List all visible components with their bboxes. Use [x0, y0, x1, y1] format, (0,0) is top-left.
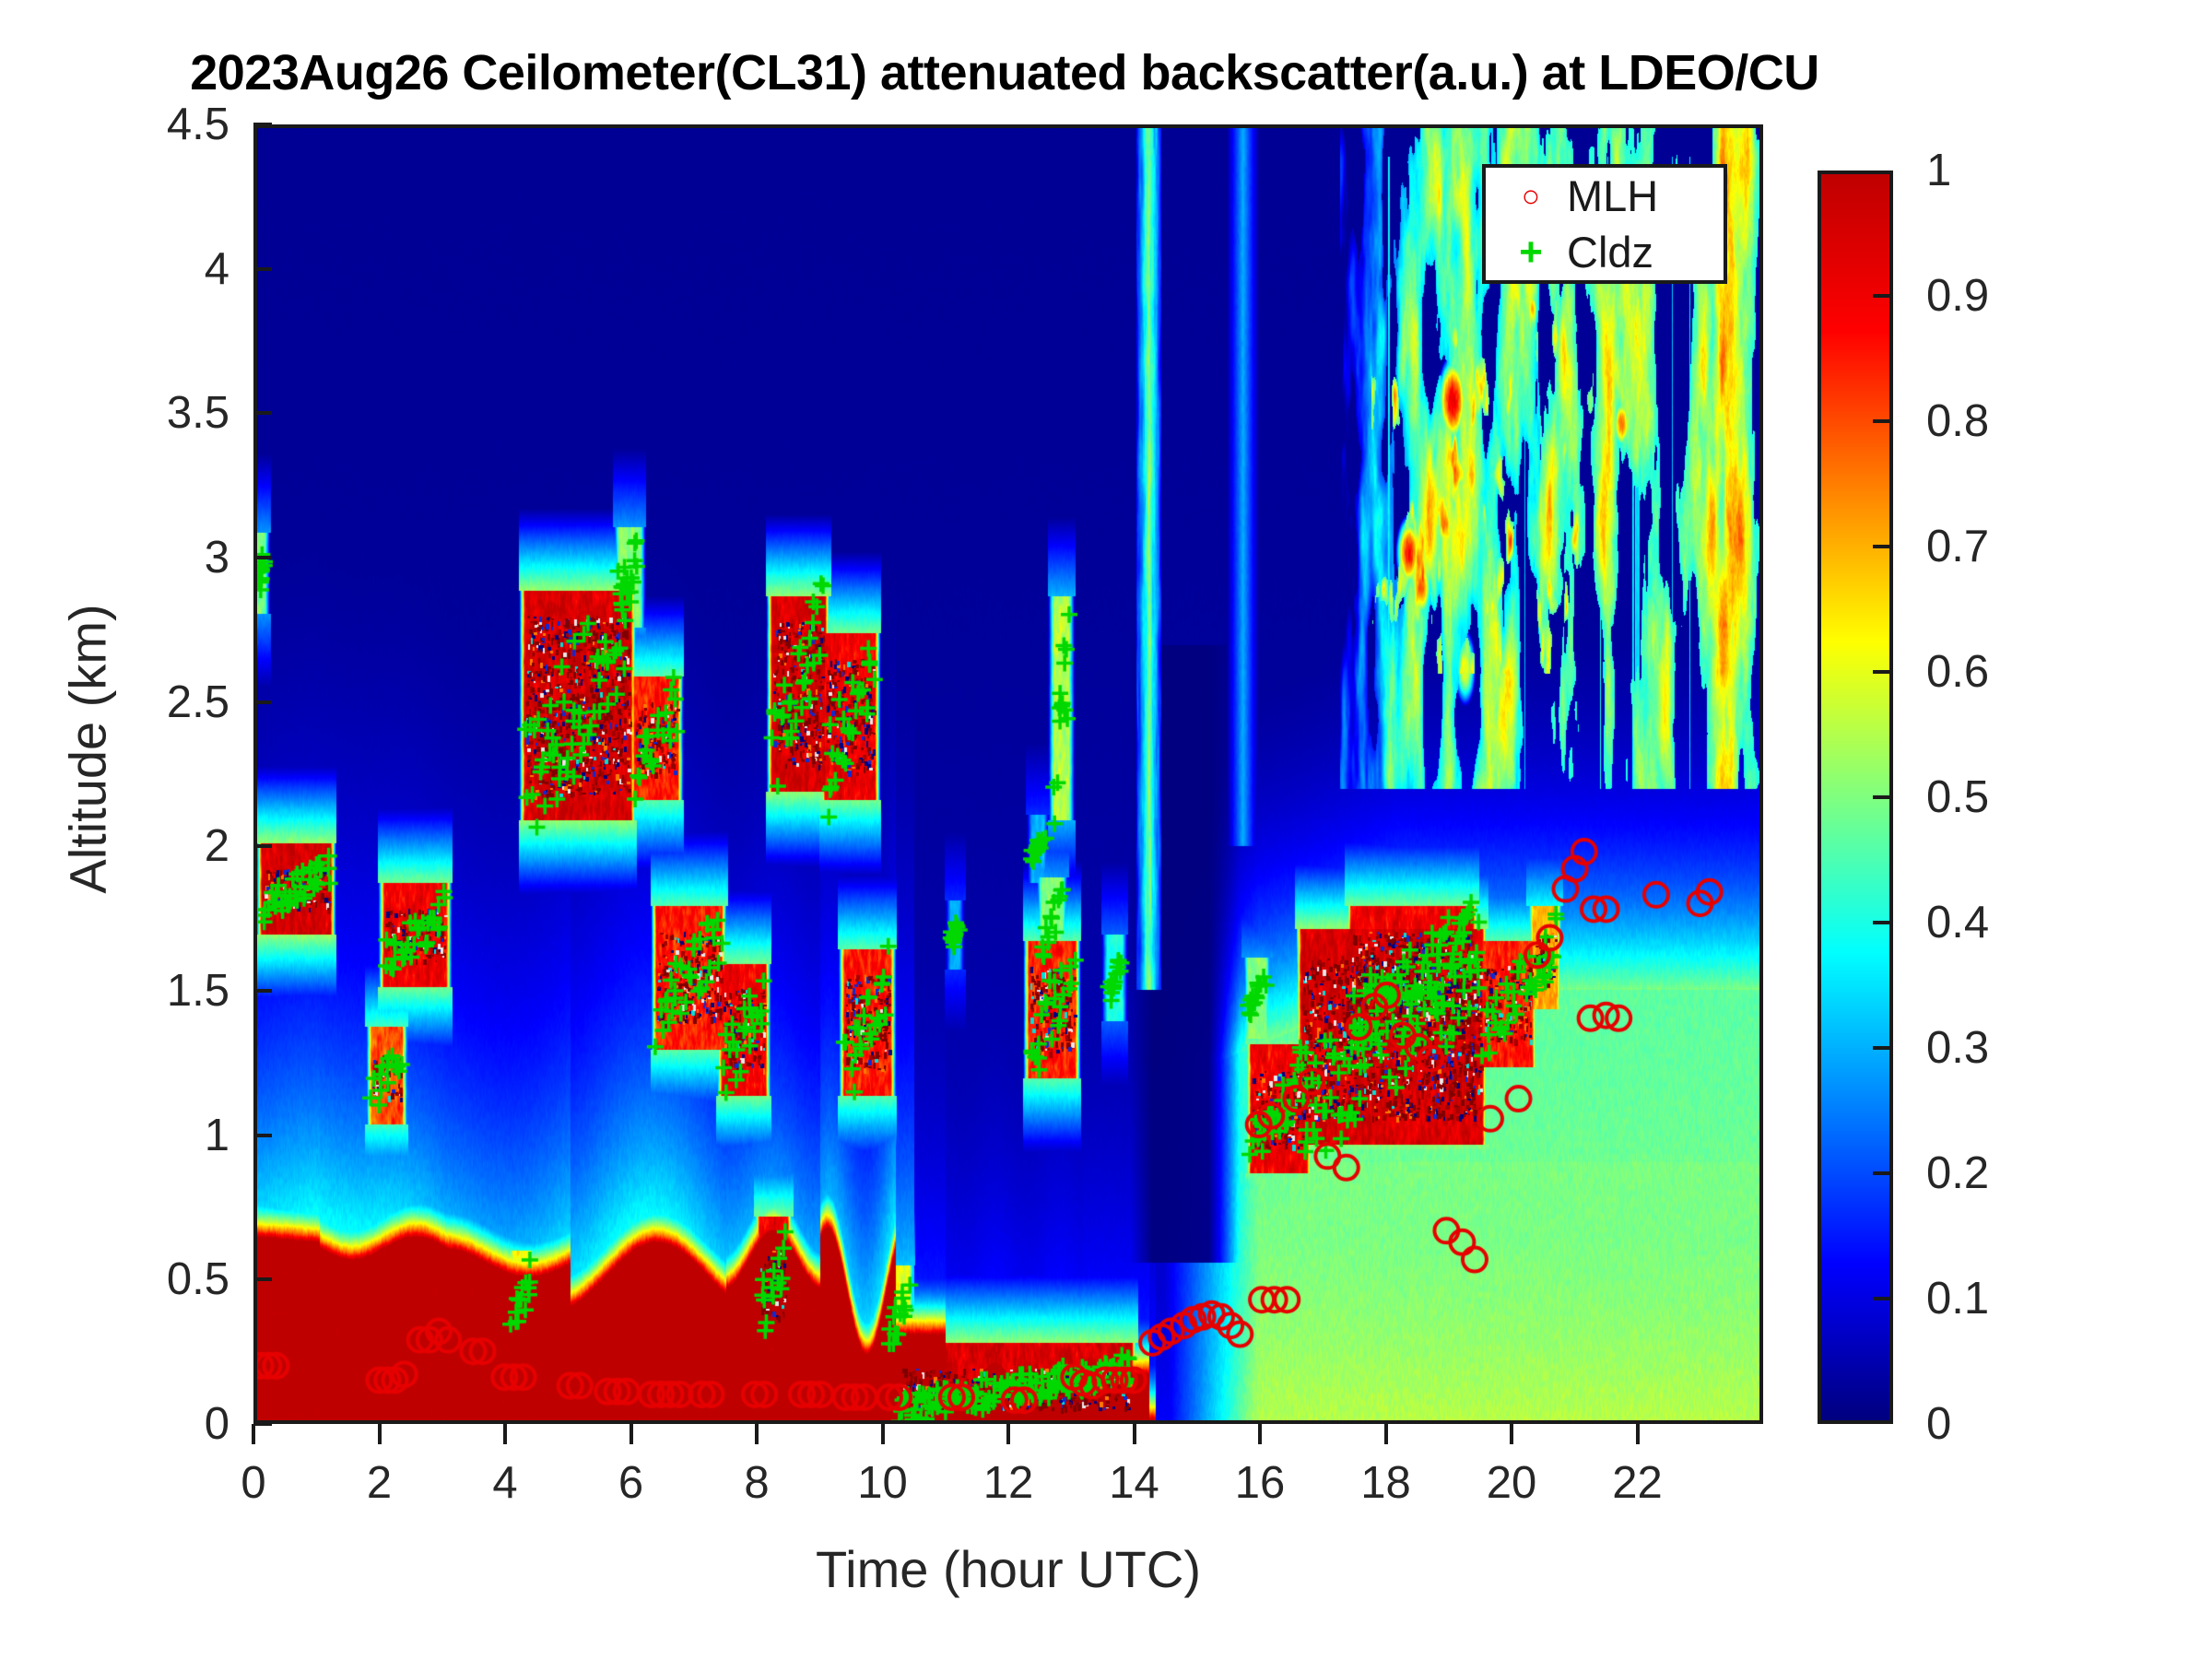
marker-overlay [257, 128, 1759, 1420]
figure-root: 2023Aug26 Ceilometer(CL31) attenuated ba… [0, 0, 2212, 1659]
colorbar-tick [1873, 545, 1889, 548]
chart-title: 2023Aug26 Ceilometer(CL31) attenuated ba… [0, 44, 2009, 101]
x-axis-tick [378, 1424, 382, 1444]
y-axis-tick-label: 1.5 [45, 965, 229, 1017]
colorbar-tick-label: 0.5 [1926, 771, 1989, 823]
legend-item-mlh[interactable]: ○ MLH [1486, 168, 1724, 224]
y-axis-tick-label: 3 [45, 532, 229, 583]
y-axis-tick-label: 2 [45, 820, 229, 872]
colorbar-tick [1873, 795, 1889, 799]
colorbar-tick [1873, 1297, 1889, 1300]
y-axis-tick [253, 123, 272, 126]
y-axis-tick-label: 0 [45, 1398, 229, 1450]
x-axis-tick [1384, 1424, 1388, 1444]
x-axis-tick [1510, 1424, 1513, 1444]
y-axis-tick [253, 844, 272, 848]
y-axis-tick [253, 700, 272, 704]
colorbar-tick [1873, 294, 1889, 298]
y-axis-tick [253, 411, 272, 415]
y-axis-tick-label: 4.5 [45, 99, 229, 150]
y-axis-tick [253, 556, 272, 559]
x-axis-tick [1133, 1424, 1136, 1444]
x-axis-tick [881, 1424, 885, 1444]
x-axis-label: Time (hour UTC) [253, 1539, 1763, 1599]
colorbar-tick-label: 0.9 [1926, 270, 1989, 322]
circle-open-icon: ○ [1495, 181, 1567, 212]
x-axis-tick [503, 1424, 507, 1444]
legend-item-cldz[interactable]: + Cldz [1486, 224, 1724, 280]
x-axis-tick [1258, 1424, 1262, 1444]
y-axis-tick [253, 267, 272, 271]
colorbar-tick [1873, 921, 1889, 924]
legend-label-cldz: Cldz [1567, 227, 1714, 277]
y-axis-tick [253, 1134, 272, 1137]
x-axis-tick [252, 1424, 255, 1444]
x-axis-tick [755, 1424, 759, 1444]
x-axis-tick [1006, 1424, 1010, 1444]
colorbar-tick-label: 0.6 [1926, 646, 1989, 698]
colorbar-tick [1873, 1171, 1889, 1175]
colorbar-tick-label: 0.8 [1926, 395, 1989, 447]
x-axis-tick [629, 1424, 633, 1444]
plot-area[interactable] [253, 124, 1763, 1424]
colorbar-tick-label: 0 [1926, 1398, 1951, 1450]
legend[interactable]: ○ MLH + Cldz [1482, 164, 1727, 284]
colorbar-tick-label: 0.1 [1926, 1273, 1989, 1324]
y-axis-tick [253, 989, 272, 993]
colorbar-tick [1873, 670, 1889, 674]
y-axis-tick-label: 4 [45, 243, 229, 295]
y-axis-tick-label: 0.5 [45, 1253, 229, 1305]
colorbar-tick [1873, 419, 1889, 423]
y-axis-tick [253, 1277, 272, 1281]
legend-label-mlh: MLH [1567, 171, 1714, 221]
colorbar-tick-label: 0.4 [1926, 897, 1989, 948]
plus-icon: + [1495, 232, 1567, 273]
y-axis-tick-label: 1 [45, 1110, 229, 1161]
colorbar-tick-label: 1 [1926, 145, 1951, 196]
y-axis-tick [253, 1422, 272, 1426]
y-axis-tick-label: 2.5 [45, 677, 229, 728]
colorbar-tick-label: 0.7 [1926, 521, 1989, 572]
colorbar-tick [1873, 1046, 1889, 1050]
y-axis-tick-label: 3.5 [45, 387, 229, 439]
x-axis-tick-label: 22 [1564, 1457, 1712, 1509]
x-axis-tick [1636, 1424, 1640, 1444]
colorbar-tick-label: 0.3 [1926, 1022, 1989, 1074]
colorbar-tick-label: 0.2 [1926, 1147, 1989, 1199]
